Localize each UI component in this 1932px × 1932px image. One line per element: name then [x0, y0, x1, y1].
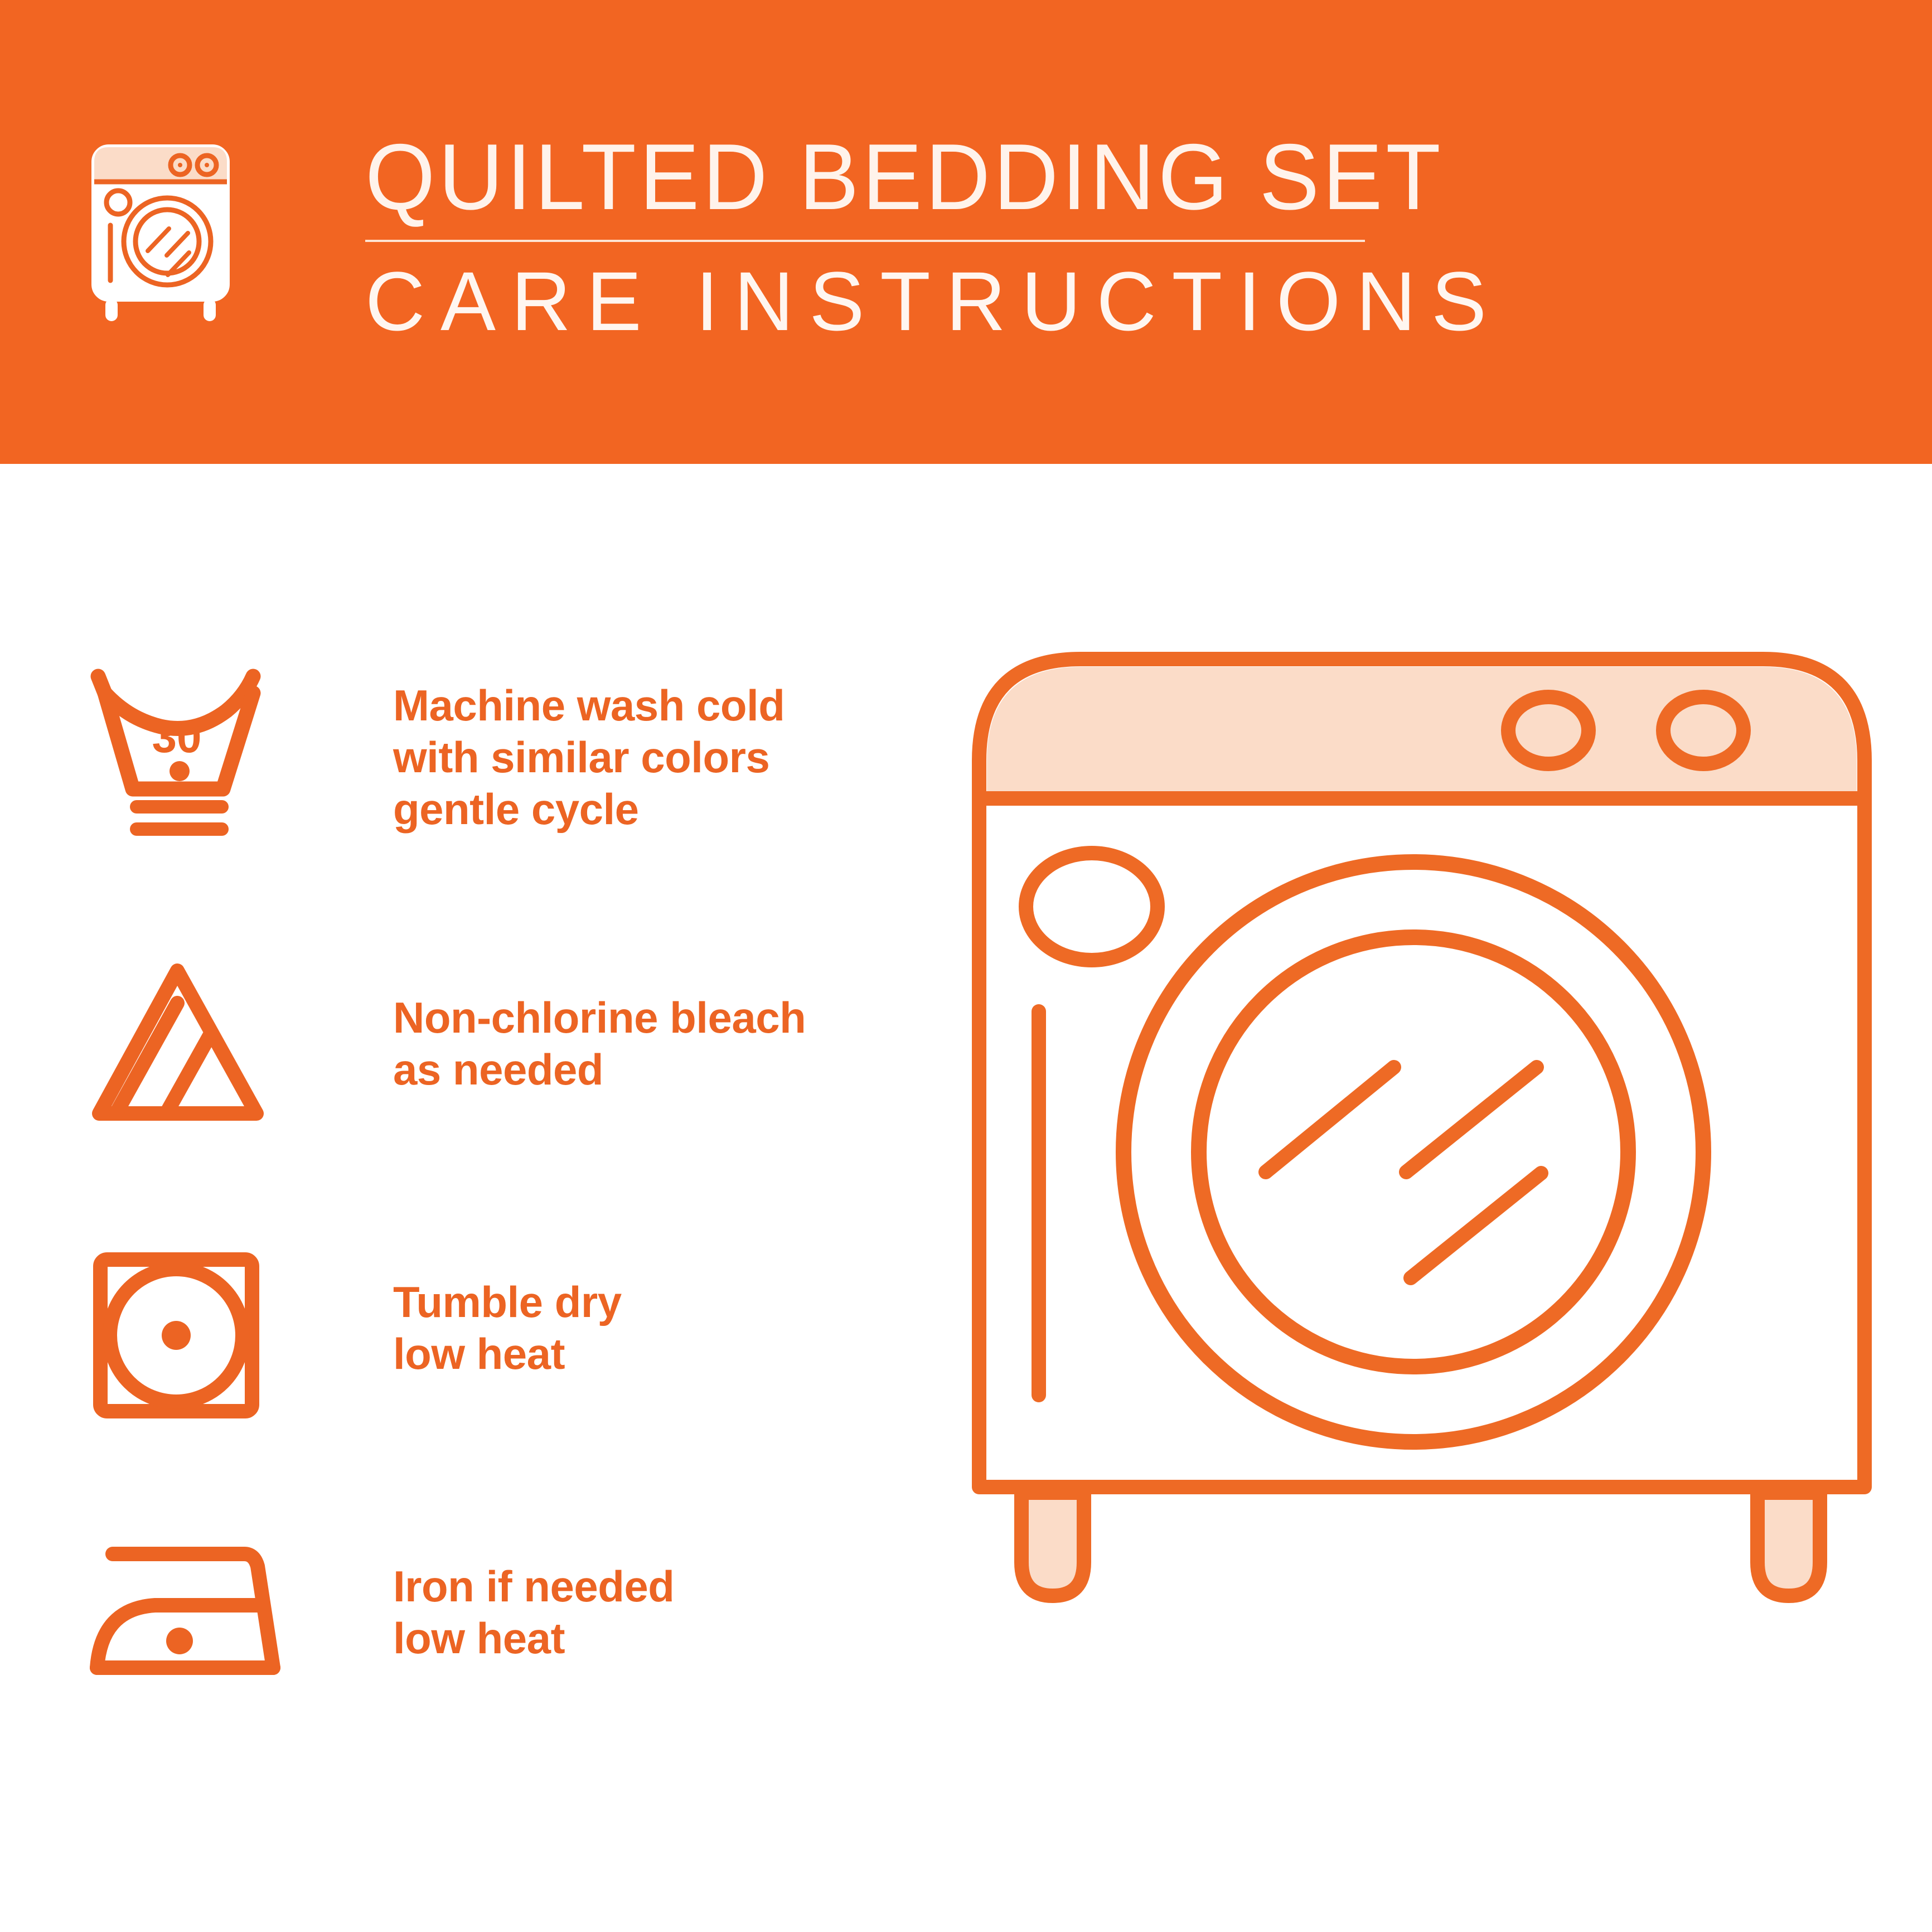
care-item-label: Iron if needed low heat — [393, 1561, 674, 1664]
care-item-machine-wash: 30 Machine wash cold with similar colors… — [89, 662, 926, 946]
care-item-iron: Iron if needed low heat — [89, 1515, 926, 1799]
washing-machine-logo-icon — [86, 139, 248, 323]
header-band: QUILTED BEDDING SET CARE INSTRUCTIONS — [0, 0, 1932, 464]
care-item-bleach: Non-chlorine bleach as needed — [89, 946, 926, 1231]
iron-low-heat-icon — [89, 1542, 290, 1726]
care-item-tumble-dry: Tumble dry low heat — [89, 1231, 926, 1515]
wash-tub-30-icon: 30 — [89, 667, 290, 851]
page-subtitle: CARE INSTRUCTIONS — [365, 256, 1337, 346]
title-divider — [365, 240, 1365, 242]
care-item-label: Non-chlorine bleach as needed — [393, 992, 806, 1096]
care-instruction-list: 30 Machine wash cold with similar colors… — [89, 662, 926, 1799]
svg-text:30: 30 — [152, 712, 202, 762]
page-title: QUILTED BEDDING SET — [365, 127, 1308, 226]
header-titles: QUILTED BEDDING SET CARE INSTRUCTIONS — [365, 127, 1347, 346]
care-item-label: Tumble dry low heat — [393, 1276, 622, 1380]
non-chlorine-bleach-triangle-icon — [89, 958, 290, 1142]
washing-machine-illustration — [948, 614, 1896, 1813]
care-item-label: Machine wash cold with similar colors ge… — [393, 680, 785, 835]
header-content: QUILTED BEDDING SET CARE INSTRUCTIONS — [86, 127, 1341, 350]
tumble-dry-low-icon — [89, 1248, 290, 1432]
main-content: 30 Machine wash cold with similar colors… — [0, 464, 1932, 1932]
